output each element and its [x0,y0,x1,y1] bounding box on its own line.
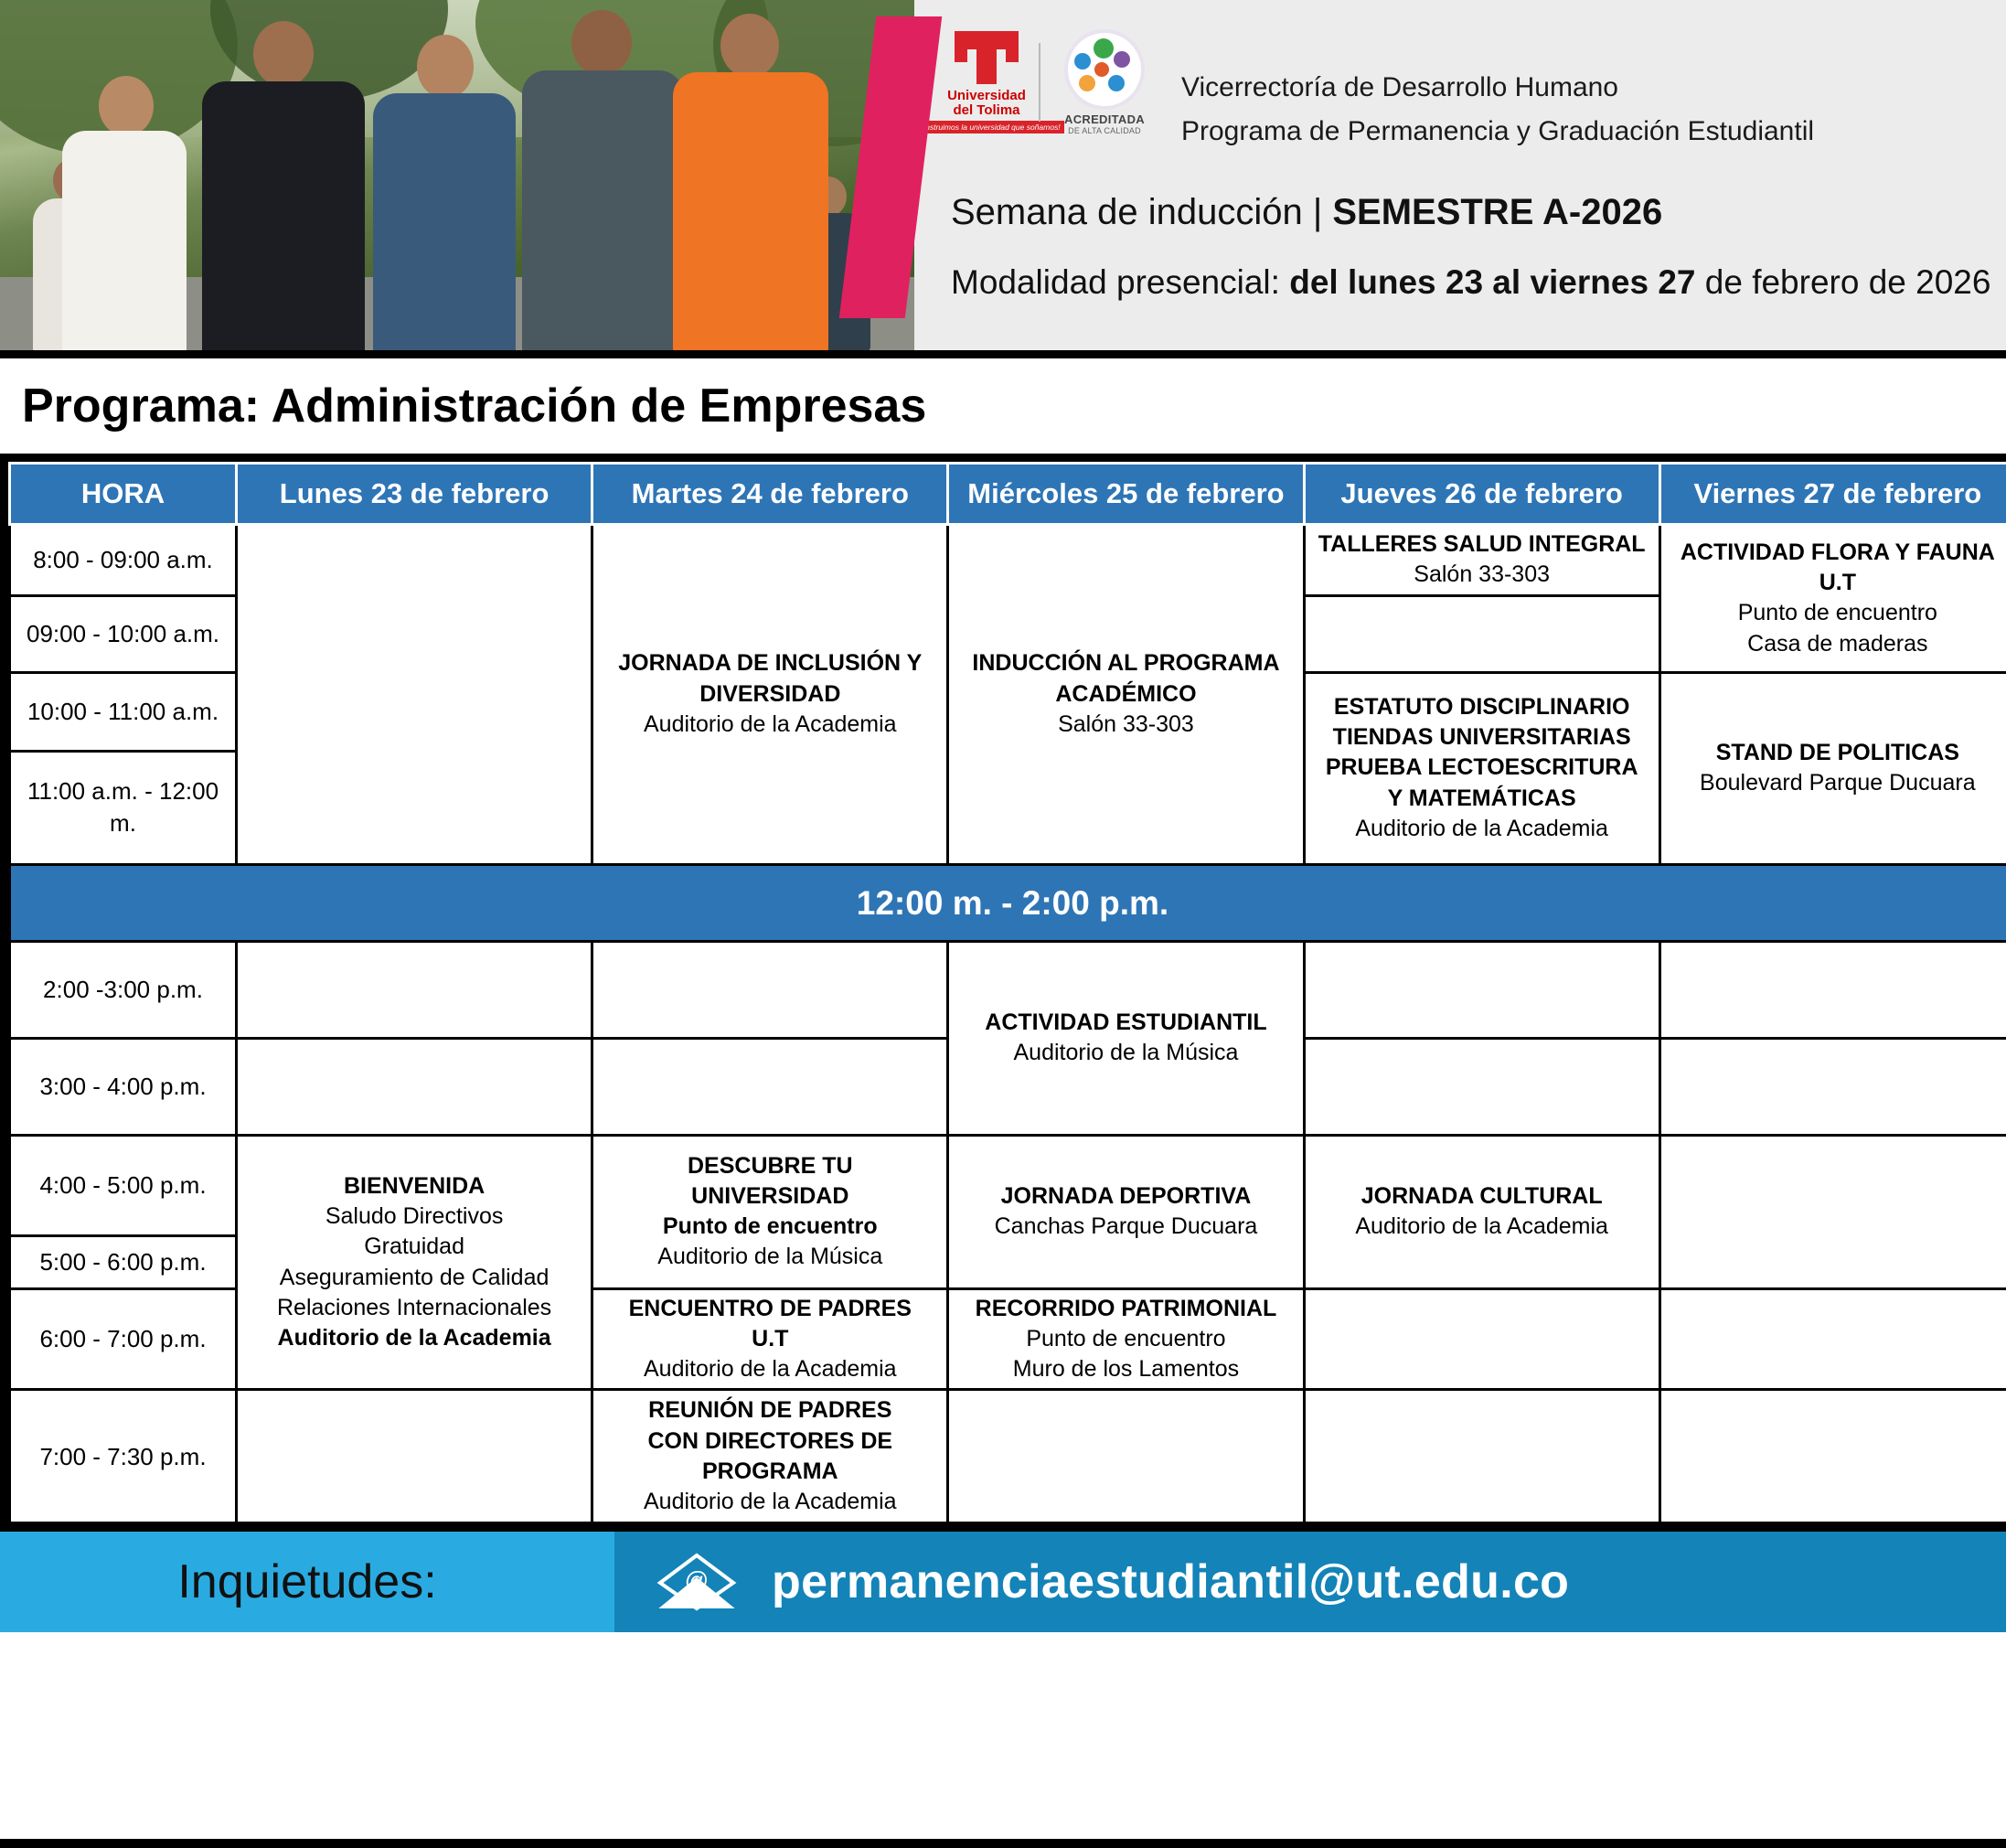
time-cell-1700: 5:00 - 6:00 p.m. [10,1235,237,1288]
students-photo [0,0,914,350]
table-row: 2:00 -3:00 p.m. ACTIVIDAD ESTUDIANTIL Au… [10,941,2006,1038]
cell-martes-1500 [592,1038,948,1135]
event-title: BIENVENIDA [243,1171,585,1202]
event-place: Salón 33-303 [1311,560,1653,590]
lunch-break-row: 12:00 m. - 2:00 p.m. [10,864,2006,941]
logo-divider [1039,43,1040,122]
column-header-martes: Martes 24 de febrero [592,464,948,525]
cell-jueves-1800 [1304,1288,1659,1390]
inquietudes-label: Inquietudes: [177,1554,436,1609]
event-title-2: UNIVERSIDAD [599,1181,941,1212]
event-title: ACTIVIDAD FLORA Y FAUNA [1667,538,2006,568]
accreditation-label-1: ACREDITADA [1064,112,1145,126]
column-header-viernes: Viernes 27 de febrero [1659,464,2006,525]
cell-miercoles-afternoon-1: ACTIVIDAD ESTUDIANTIL Auditorio de la Mú… [948,941,1304,1135]
cell-miercoles-1900 [948,1390,1304,1523]
semana-induccion-line: Semana de inducción | SEMESTRE A-2026 [914,192,2006,233]
event-place: Auditorio de la Música [599,1242,941,1272]
cell-lunes-bienvenida: BIENVENIDA Saludo Directivos Gratuidad A… [237,1135,592,1390]
cell-lunes-morning [237,525,592,865]
time-cell-1600: 4:00 - 5:00 p.m. [10,1135,237,1235]
cell-martes-1400 [592,941,948,1038]
event-place: Canchas Parque Ducuara [955,1212,1296,1242]
induction-schedule-poster: Universidad del Tolima ¡Construimos la u… [0,0,2006,1848]
time-cell-1000: 10:00 - 11:00 a.m. [10,672,237,751]
event-title: JORNADA DEPORTIVA [955,1181,1296,1212]
column-header-miercoles: Miércoles 25 de febrero [948,464,1304,525]
table-header-row: HORA Lunes 23 de febrero Martes 24 de fe… [10,464,2006,525]
cell-viernes-1400 [1659,941,2006,1038]
vicerrectoria-block: Vicerrectoría de Desarrollo Humano Progr… [1181,66,1814,154]
event-place: Auditorio de la Academia [599,710,941,740]
accreditation-seal: ACREDITADA DE ALTA CALIDAD [1057,29,1152,135]
cell-jueves-0900 [1304,595,1659,672]
page-title: Programa: Administración de Empresas [0,358,2006,462]
photo-person-3 [366,35,521,350]
event-title-2: U.T [1667,568,2006,598]
program-name: Programa: Administración de Empresas [22,379,926,433]
event-place: Auditorio de la Academia [1311,814,1653,844]
event-title-2: U.T [599,1324,941,1354]
event-title-3: PRUEBA LECTOESCRITURA [1311,753,1653,783]
modalidad-suffix: de febrero de 2026 [1695,263,1990,301]
time-cell-1400: 2:00 -3:00 p.m. [10,941,237,1038]
column-header-jueves: Jueves 26 de febrero [1304,464,1659,525]
event-place: Auditorio de la Academia [599,1487,941,1517]
semestre-label: SEMESTRE A-2026 [1332,192,1662,232]
event-title: ESTATUTO DISCIPLINARIO [1311,692,1653,722]
ut-monogram-icon [955,31,1019,86]
event-title: STAND DE POLITICAS [1667,738,2006,768]
semana-induccion-prefix: Semana de inducción | [951,192,1332,232]
time-cell-1500: 3:00 - 4:00 p.m. [10,1038,237,1135]
university-name-line2: del Tolima [947,103,1026,118]
schedule-table-body: 8:00 - 09:00 a.m. JORNADA DE INCLUSIÓN Y… [10,525,2006,1523]
vicerrectoria-title: Vicerrectoría de Desarrollo Humano [1181,66,1814,110]
event-title: JORNADA CULTURAL [1311,1181,1653,1212]
cell-miercoles-recorrido: RECORRIDO PATRIMONIAL Punto de encuentro… [948,1288,1304,1390]
event-title-4: Y MATEMÁTICAS [1311,784,1653,814]
contact-footer: Inquietudes: @ permanenciaestudiantil@ut… [0,1524,2006,1632]
cell-viernes-afternoon [1659,1135,2006,1288]
university-slogan: ¡Construimos la universidad que soñamos! [909,121,1063,134]
event-place: Boulevard Parque Ducuara [1667,768,2006,798]
event-line-1: Saludo Directivos [243,1202,585,1232]
accreditation-label-2: DE ALTA CALIDAD [1068,126,1141,135]
cell-jueves-1400 [1304,941,1659,1038]
event-place: Auditorio de la Música [955,1038,1296,1068]
cell-viernes-1800 [1659,1288,2006,1390]
accreditation-circle-icon [1064,29,1145,110]
time-cell-1800: 6:00 - 7:00 p.m. [10,1288,237,1390]
event-place: Punto de encuentro [955,1324,1296,1354]
event-title: RECORRIDO PATRIMONIAL [955,1294,1296,1324]
event-place: Auditorio de la Academia [599,1354,941,1384]
cell-miercoles-deportiva: JORNADA DEPORTIVA Canchas Parque Ducuara [948,1135,1304,1288]
event-title: DESCUBRE TU [599,1151,941,1181]
contact-email[interactable]: permanenciaestudiantil@ut.edu.co [772,1554,1569,1609]
event-line-3: Aseguramiento de Calidad [243,1263,585,1293]
time-cell-1900: 7:00 - 7:30 p.m. [10,1390,237,1523]
programa-title: Programa de Permanencia y Graduación Est… [1181,110,1814,154]
cell-miercoles-morning: INDUCCIÓN AL PROGRAMA ACADÉMICO Salón 33… [948,525,1304,865]
schedule-table-wrapper: HORA Lunes 23 de febrero Martes 24 de fe… [0,462,2006,1524]
event-title-2: DIVERSIDAD [599,679,941,710]
time-cell-1100: 11:00 a.m. - 12:00 m. [10,751,237,864]
cell-martes-encuentro-padres: ENCUENTRO DE PADRES U.T Auditorio de la … [592,1288,948,1390]
cell-lunes-1900 [237,1390,592,1523]
column-header-lunes: Lunes 23 de febrero [237,464,592,525]
email-block[interactable]: @ permanenciaestudiantil@ut.edu.co [614,1532,2006,1632]
cell-viernes-morning-2: STAND DE POLITICAS Boulevard Parque Ducu… [1659,672,2006,864]
event-place-2: Muro de los Lamentos [955,1354,1296,1384]
event-title-3: Punto de encuentro [599,1212,941,1242]
event-place: Auditorio de la Academia [1311,1212,1653,1242]
event-title: INDUCCIÓN AL PROGRAMA [955,648,1296,678]
hero-text-panel: Universidad del Tolima ¡Construimos la u… [914,0,2006,350]
cell-viernes-1900 [1659,1390,2006,1523]
column-header-hora: HORA [10,464,237,525]
event-title: TALLERES SALUD INTEGRAL [1311,529,1653,560]
table-row: 8:00 - 09:00 a.m. JORNADA DE INCLUSIÓN Y… [10,525,2006,596]
event-line-2: Gratuidad [243,1232,585,1262]
schedule-table-head: HORA Lunes 23 de febrero Martes 24 de fe… [10,464,2006,525]
time-cell-0800: 8:00 - 09:00 a.m. [10,525,237,596]
cell-martes-descubre: DESCUBRE TU UNIVERSIDAD Punto de encuent… [592,1135,948,1288]
envelope-at-icon: @ [653,1552,741,1612]
photo-person-2 [197,21,370,350]
event-line-4: Relaciones Internacionales [243,1293,585,1323]
university-logo: Universidad del Tolima ¡Construimos la u… [951,31,1022,134]
event-place: Salón 33-303 [955,710,1296,740]
cell-jueves-1500 [1304,1038,1659,1135]
cell-viernes-1500 [1659,1038,2006,1135]
university-name: Universidad del Tolima [947,89,1026,118]
time-cell-0900: 09:00 - 10:00 a.m. [10,595,237,672]
event-place: Auditorio de la Academia [243,1323,585,1353]
event-place: Punto de encuentro [1667,598,2006,628]
svg-text:@: @ [685,1566,709,1594]
modalidad-line: Modalidad presencial: del lunes 23 al vi… [914,263,2006,302]
cell-martes-reunion-padres: REUNIÓN DE PADRES CON DIRECTORES DE PROG… [592,1390,948,1523]
photo-person-1 [57,76,194,350]
table-row: 7:00 - 7:30 p.m. REUNIÓN DE PADRES CON D… [10,1390,2006,1523]
event-title: JORNADA DE INCLUSIÓN Y [599,648,941,678]
lunch-break-label: 12:00 m. - 2:00 p.m. [10,864,2006,941]
cell-jueves-1900 [1304,1390,1659,1523]
cell-lunes-1400 [237,941,592,1038]
cell-jueves-morning-2: ESTATUTO DISCIPLINARIO TIENDAS UNIVERSIT… [1304,672,1659,864]
cell-lunes-1500 [237,1038,592,1135]
university-name-line1: Universidad [947,89,1026,103]
hero-banner: Universidad del Tolima ¡Construimos la u… [0,0,2006,358]
event-title-3: PROGRAMA [599,1457,941,1487]
event-title: ENCUENTRO DE PADRES [599,1294,941,1324]
event-title-2: ACADÉMICO [955,679,1296,710]
event-title-2: CON DIRECTORES DE [599,1426,941,1457]
schedule-table: HORA Lunes 23 de febrero Martes 24 de fe… [8,462,2006,1524]
photo-person-5 [667,14,832,350]
logo-row: Universidad del Tolima ¡Construimos la u… [951,29,1152,135]
table-row: 4:00 - 5:00 p.m. BIENVENIDA Saludo Direc… [10,1135,2006,1235]
cell-martes-morning: JORNADA DE INCLUSIÓN Y DIVERSIDAD Audito… [592,525,948,865]
event-title-2: TIENDAS UNIVERSITARIAS [1311,722,1653,753]
cell-jueves-cultural: JORNADA CULTURAL Auditorio de la Academi… [1304,1135,1659,1288]
inquietudes-label-block: Inquietudes: [0,1532,614,1632]
event-title: ACTIVIDAD ESTUDIANTIL [955,1008,1296,1038]
cell-jueves-0800: TALLERES SALUD INTEGRAL Salón 33-303 [1304,525,1659,596]
event-title: REUNIÓN DE PADRES [599,1395,941,1426]
photo-person-4 [517,10,686,350]
modalidad-prefix: Modalidad presencial: [951,263,1289,301]
cell-viernes-morning-1: ACTIVIDAD FLORA Y FAUNA U.T Punto de enc… [1659,525,2006,673]
modalidad-dates: del lunes 23 al viernes 27 [1289,263,1695,301]
event-place-2: Casa de maderas [1667,629,2006,659]
